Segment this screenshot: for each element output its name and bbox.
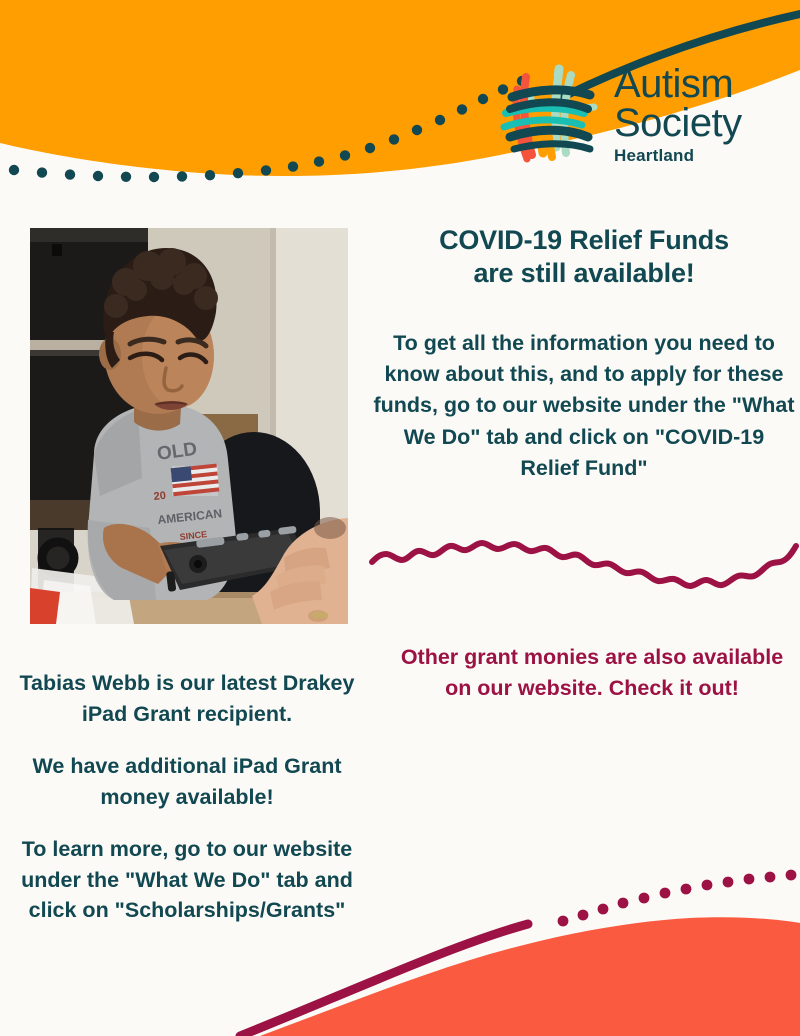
poster-canvas: Autism Society Heartland [0, 0, 800, 1036]
maroon-squiggle-line [372, 543, 796, 586]
maroon-dotted-curve-bottom [558, 870, 797, 927]
relief-fund-instructions: To get all the information you need to k… [372, 328, 796, 484]
logo-chapter-heartland: Heartland [614, 148, 742, 165]
svg-text:20: 20 [153, 490, 166, 503]
ipad-grant-paragraph-3: To learn more, go to our website under t… [12, 834, 362, 926]
logo-line-autism: Autism [614, 65, 742, 104]
headline-line-1: COVID-19 Relief Funds [372, 224, 796, 257]
recipient-photo-image: OLD 20 AMERICAN SINCE [30, 228, 348, 624]
logo-line-society: Society [614, 104, 742, 143]
autism-society-woven-circle-logo-icon [496, 61, 604, 169]
coral-wave-bottom [260, 917, 800, 1036]
teal-dotted-curve-top [9, 76, 527, 182]
headline-line-2: are still available! [372, 257, 796, 290]
logo-wordmark: Autism Society Heartland [614, 65, 742, 165]
other-grants-callout: Other grant monies are also available on… [392, 642, 792, 703]
ipad-grant-story: Tabias Webb is our latest Drakey iPad Gr… [12, 668, 362, 926]
maroon-solid-curve-bottom [240, 924, 528, 1036]
ipad-grant-paragraph-2: We have additional iPad Grant money avai… [12, 751, 362, 812]
autism-society-heartland-logo: Autism Society Heartland [496, 58, 768, 172]
ipad-grant-paragraph-1: Tabias Webb is our latest Drakey iPad Gr… [12, 668, 362, 729]
page-headline: COVID-19 Relief Funds are still availabl… [372, 224, 796, 290]
recipient-photo: OLD 20 AMERICAN SINCE [30, 228, 348, 624]
